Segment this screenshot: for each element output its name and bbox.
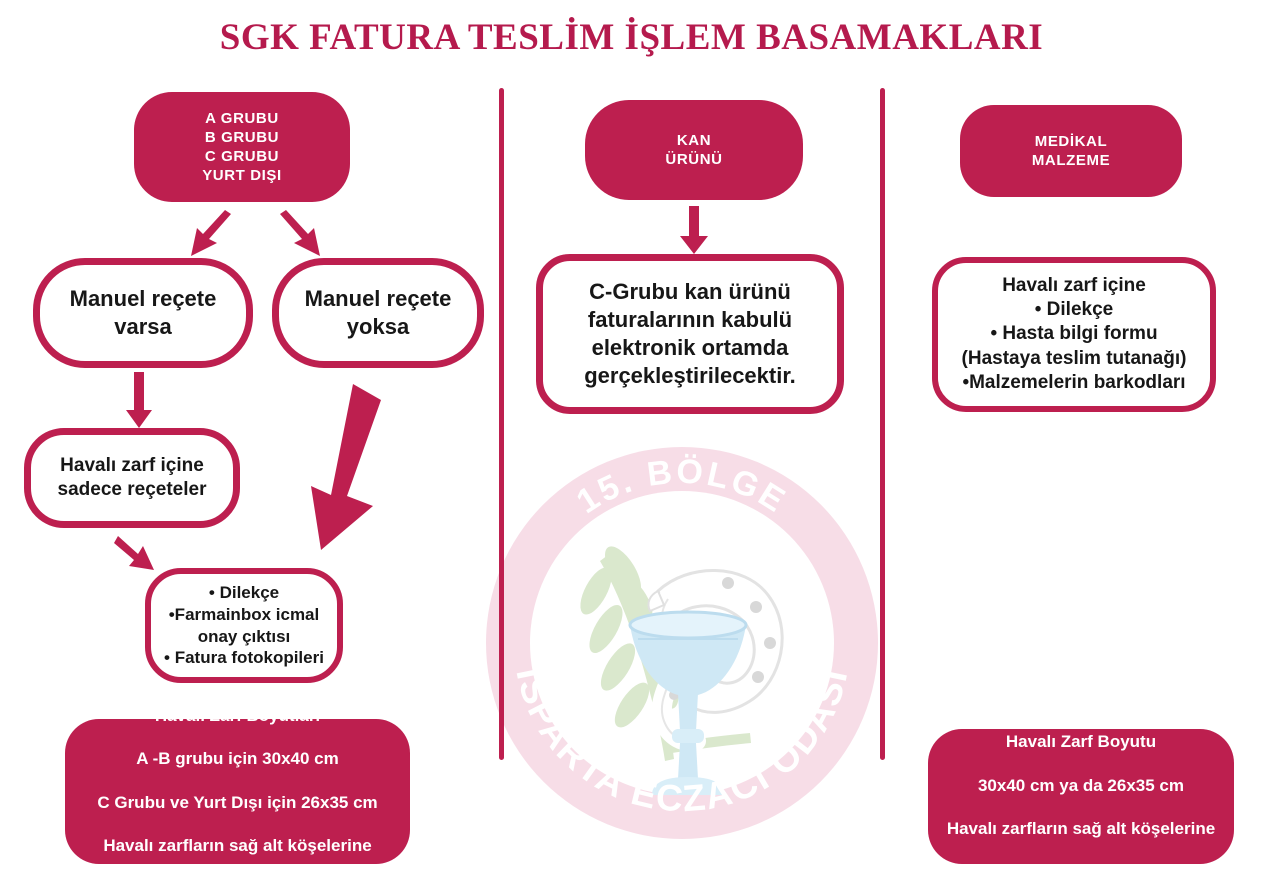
left-footer-line2-bold: 30x40 xyxy=(262,749,309,768)
middle-note-label: C-Grubu kan ürünü faturalarının kabulü e… xyxy=(576,274,804,395)
svg-text:ISPARTA ECZACI ODASI: ISPARTA ECZACI ODASI xyxy=(508,664,855,819)
arrow-split-right xyxy=(268,210,328,265)
right-footer-line3: Havalı zarfların sağ alt köşelerine xyxy=(947,819,1215,838)
watermark-logo: 15. BÖLGE ISPARTA ECZACI ODASI xyxy=(482,443,882,843)
right-start-label: MEDİKAL MALZEME xyxy=(1024,128,1118,174)
arrow-down-left xyxy=(124,372,154,435)
right-footer-text: Havalı Zarf Boyutu 30x40 cm ya da 26x35 … xyxy=(939,706,1223,888)
left-footer-line4: Havalı zarfların sağ alt köşelerine xyxy=(103,836,371,855)
watermark-bottom-text: ISPARTA ECZACI ODASI xyxy=(508,664,855,819)
right-footer-line1: Havalı Zarf Boyutu xyxy=(1006,732,1156,751)
middle-start-box[interactable]: KAN ÜRÜNÜ xyxy=(585,100,803,200)
right-documents-box[interactable]: Havalı zarf içine • Dilekçe • Hasta bilg… xyxy=(932,257,1216,412)
left-footer-line5: etiket yapıştırılacak xyxy=(159,880,316,893)
page-title: SGK FATURA TESLİM İŞLEM BASAMAKLARI xyxy=(0,16,1263,59)
arrow-big-diagonal xyxy=(285,378,395,563)
left-start-box[interactable]: A GRUBU B GRUBU C GRUBU YURT DIŞI xyxy=(134,92,350,202)
arrow-down-middle xyxy=(678,206,710,261)
right-footer-line2: 30x40 cm ya da 26x35 cm xyxy=(978,776,1184,795)
arrow-small-diagonal xyxy=(112,532,164,579)
arrow-split-left xyxy=(183,210,243,265)
middle-start-label: KAN ÜRÜNÜ xyxy=(657,127,730,173)
infographic-page: SGK FATURA TESLİM İŞLEM BASAMAKLARI xyxy=(0,0,1263,893)
left-footer-line3-bold: 26x35 xyxy=(301,793,348,812)
right-documents-label: Havalı zarf içine • Dilekçe • Hasta bilg… xyxy=(954,270,1195,400)
bowl-icon xyxy=(630,612,746,795)
left-branch-yes-label: Manuel reçete varsa xyxy=(62,281,225,345)
left-documents-box[interactable]: • Dilekçe •Farmainbox icmal onay çıktısı… xyxy=(145,568,343,683)
left-branch-yes-box[interactable]: Manuel reçete varsa xyxy=(33,258,253,368)
divider-right xyxy=(880,88,885,760)
right-start-box[interactable]: MEDİKAL MALZEME xyxy=(960,105,1182,197)
right-footer-line4: etiket yapıştırılacak xyxy=(1003,863,1160,882)
left-documents-label: • Dilekçe •Farmainbox icmal onay çıktısı… xyxy=(156,578,332,673)
laurel-branch-icon xyxy=(574,541,751,761)
left-footer-line3-post: cm xyxy=(348,793,377,812)
left-footer-line2-post: cm xyxy=(309,749,338,768)
middle-note-box[interactable]: C-Grubu kan ürünü faturalarının kabulü e… xyxy=(536,254,844,414)
left-footer-text: Havalı Zarf Boyutları A -B grubu için 30… xyxy=(89,679,385,893)
left-envelope-box[interactable]: Havalı zarf içine sadece reçeteler xyxy=(24,428,240,528)
watermark-top-text: 15. BÖLGE xyxy=(570,452,794,521)
left-footer-box[interactable]: Havalı Zarf Boyutları A -B grubu için 30… xyxy=(65,719,410,864)
snake-icon xyxy=(648,570,782,741)
left-footer-line2-pre: A -B grubu için xyxy=(136,749,262,768)
left-footer-line3-pre: C Grubu ve Yurt Dışı için xyxy=(97,793,301,812)
left-branch-no-box[interactable]: Manuel reçete yoksa xyxy=(272,258,484,368)
left-branch-no-label: Manuel reçete yoksa xyxy=(297,281,460,345)
left-footer-line1: Havalı Zarf Boyutları xyxy=(155,706,320,725)
left-envelope-label: Havalı zarf içine sadece reçeteler xyxy=(50,450,215,507)
left-start-label: A GRUBU B GRUBU C GRUBU YURT DIŞI xyxy=(194,105,290,190)
right-footer-box[interactable]: Havalı Zarf Boyutu 30x40 cm ya da 26x35 … xyxy=(928,729,1234,864)
divider-left xyxy=(499,88,504,760)
svg-text:15. BÖLGE: 15. BÖLGE xyxy=(570,452,794,521)
